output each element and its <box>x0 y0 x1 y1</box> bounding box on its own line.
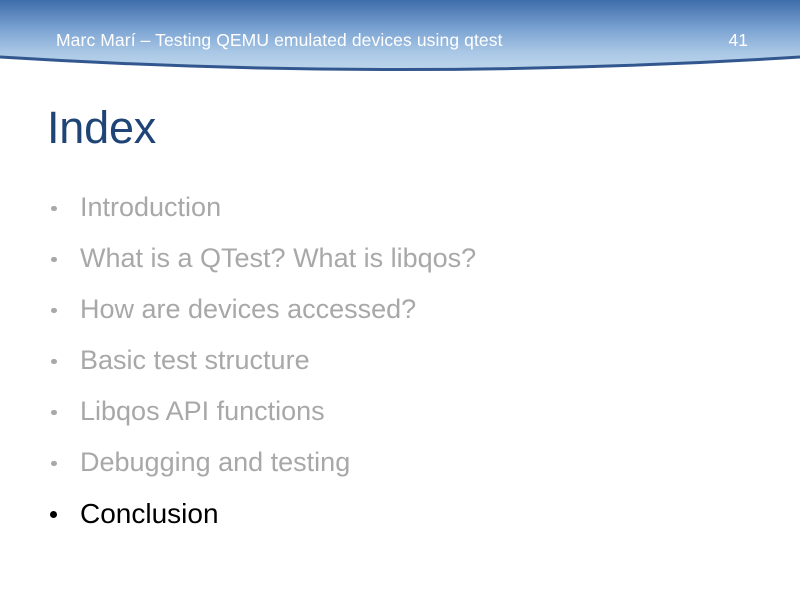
list-item-label: Introduction <box>80 182 221 233</box>
page-title: Index <box>47 104 156 151</box>
list-item[interactable]: Debugging and testing <box>44 437 744 488</box>
slide-page-number: 41 <box>729 30 748 51</box>
slide-header-band: Marc Marí – Testing QEMU emulated device… <box>0 0 800 78</box>
bullet-dot-icon <box>51 308 57 314</box>
bullet-dot-icon <box>51 359 57 365</box>
list-item-label: Libqos API functions <box>80 386 325 437</box>
list-item-active[interactable]: Conclusion <box>44 488 744 539</box>
header-title: Marc Marí – Testing QEMU emulated device… <box>56 30 503 51</box>
list-item-label: Debugging and testing <box>80 437 350 488</box>
bullet-dot-icon <box>51 206 57 212</box>
list-item[interactable]: Basic test structure <box>44 335 744 386</box>
list-item-label: Basic test structure <box>80 335 310 386</box>
list-item-label: What is a QTest? What is libqos? <box>80 233 476 284</box>
index-bullet-list: Introduction What is a QTest? What is li… <box>44 182 744 539</box>
presentation-slide: Marc Marí – Testing QEMU emulated device… <box>0 0 800 600</box>
bullet-dot-icon <box>50 511 57 518</box>
list-item[interactable]: What is a QTest? What is libqos? <box>44 233 744 284</box>
list-item[interactable]: Libqos API functions <box>44 386 744 437</box>
list-item-label: Conclusion <box>80 488 219 539</box>
bullet-dot-icon <box>51 257 57 263</box>
list-item[interactable]: Introduction <box>44 182 744 233</box>
list-item[interactable]: How are devices accessed? <box>44 284 744 335</box>
bullet-dot-icon <box>51 410 57 416</box>
list-item-label: How are devices accessed? <box>80 284 416 335</box>
bullet-dot-icon <box>51 461 57 467</box>
